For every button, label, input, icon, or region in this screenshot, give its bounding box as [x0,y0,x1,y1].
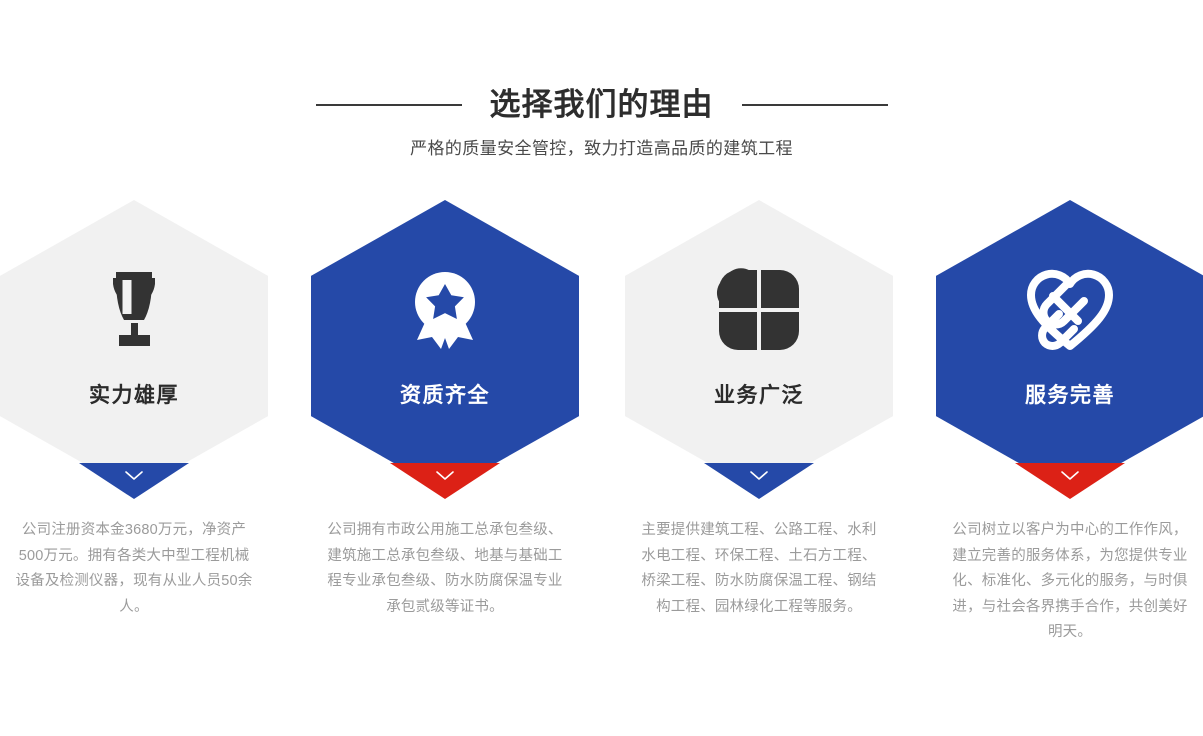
title-rule-left [316,104,462,106]
four-petal-clover-icon [706,258,812,362]
handshake-heart-icon [1017,258,1123,362]
hexagon-wrap[interactable]: 服务完善 [936,200,1203,492]
hexagon-wrap[interactable]: 资质齐全 [311,200,579,492]
feature-card-list: 实力雄厚 公司注册资本金3680万元，净资产500万元。拥有各类大中型工程机械设… [0,200,1203,700]
title-rule-right [742,104,888,106]
section-header: 选择我们的理由 严格的质量安全管控，致力打造高品质的建筑工程 [0,82,1203,161]
card-description: 公司树立以客户为中心的工作作风，建立完善的服务体系，为您提供专业化、标准化、多元… [948,518,1192,646]
hexagon-content: 业务广泛 [625,200,893,492]
feature-card[interactable]: 业务广泛 主要提供建筑工程、公路工程、水利水电工程、环保工程、土石方工程、桥梁工… [625,200,893,700]
chevron-down-icon [1060,470,1080,481]
card-title: 实力雄厚 [89,382,179,410]
title-row: 选择我们的理由 [0,82,1203,128]
card-title: 服务完善 [1025,382,1115,410]
page-title: 选择我们的理由 [490,82,714,128]
card-description: 主要提供建筑工程、公路工程、水利水电工程、环保工程、土石方工程、桥梁工程、防水防… [637,518,881,620]
card-title: 业务广泛 [714,382,804,410]
feature-card[interactable]: 资质齐全 公司拥有市政公用施工总承包叁级、建筑施工总承包叁级、地基与基础工程专业… [311,200,579,700]
section-subtitle: 严格的质量安全管控，致力打造高品质的建筑工程 [0,137,1203,161]
card-description: 公司拥有市政公用施工总承包叁级、建筑施工总承包叁级、地基与基础工程专业承包叁级、… [323,518,567,620]
card-description: 公司注册资本金3680万元，净资产500万元。拥有各类大中型工程机械设备及检测仪… [12,518,256,620]
chevron-down-icon [124,470,144,481]
trophy-icon [81,258,187,362]
medal-badge-icon [392,258,498,362]
hexagon-content: 资质齐全 [311,200,579,492]
card-title: 资质齐全 [400,382,490,410]
hexagon-wrap[interactable]: 实力雄厚 [0,200,268,492]
hexagon-content: 实力雄厚 [0,200,268,492]
hexagon-content: 服务完善 [936,200,1203,492]
why-choose-us-section: 选择我们的理由 严格的质量安全管控，致力打造高品质的建筑工程 [0,0,1203,736]
feature-card[interactable]: 实力雄厚 公司注册资本金3680万元，净资产500万元。拥有各类大中型工程机械设… [0,200,268,700]
hexagon-wrap[interactable]: 业务广泛 [625,200,893,492]
chevron-down-icon [749,470,769,481]
chevron-down-icon [435,470,455,481]
feature-card[interactable]: 服务完善 公司树立以客户为中心的工作作风，建立完善的服务体系，为您提供专业化、标… [936,200,1203,700]
